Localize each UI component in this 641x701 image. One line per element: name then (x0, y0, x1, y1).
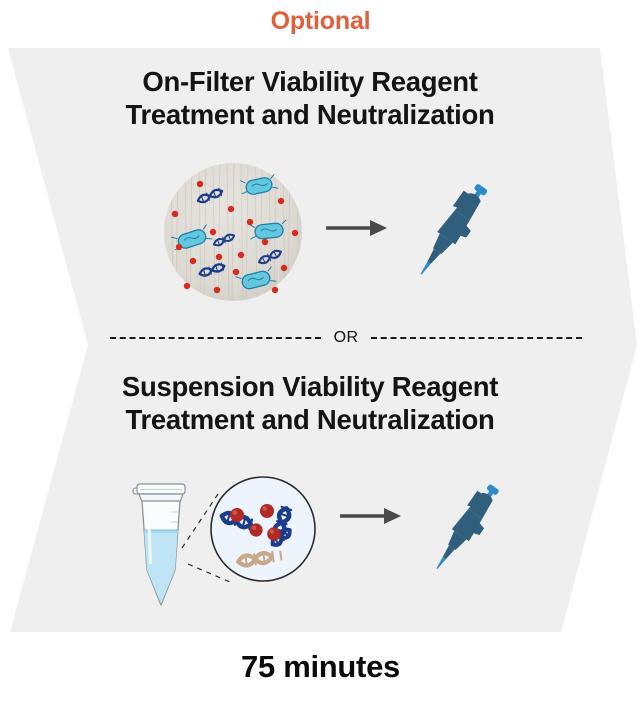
or-divider-dash-left (110, 337, 321, 339)
magnified-view-illustration (208, 474, 318, 584)
step-on-filter-heading-line2: Treatment and Neutralization (60, 98, 560, 131)
or-divider: OR (110, 327, 582, 349)
micropipette-icon-suspension (420, 480, 512, 576)
filter-disc-illustration (162, 160, 304, 305)
diagram-canvas: Optional On-Filter Viability Reagent Tre… (0, 0, 641, 701)
micropipette-icon-on-filter (402, 178, 502, 282)
step-suspension-heading-line1: Suspension Viability Reagent (60, 370, 560, 403)
optional-label: Optional (0, 5, 641, 37)
arrow-on-filter-to-pipette (324, 214, 388, 242)
duration-label: 75 minutes (0, 648, 641, 686)
or-divider-label: OR (321, 329, 372, 347)
or-divider-dash-right (371, 337, 582, 339)
arrow-suspension-to-pipette (338, 502, 402, 530)
step-suspension-heading: Suspension Viability Reagent Treatment a… (60, 370, 560, 436)
step-on-filter-heading: On-Filter Viability Reagent Treatment an… (60, 65, 560, 131)
step-suspension-heading-line2: Treatment and Neutralization (60, 403, 560, 436)
step-on-filter-heading-line1: On-Filter Viability Reagent (60, 65, 560, 98)
